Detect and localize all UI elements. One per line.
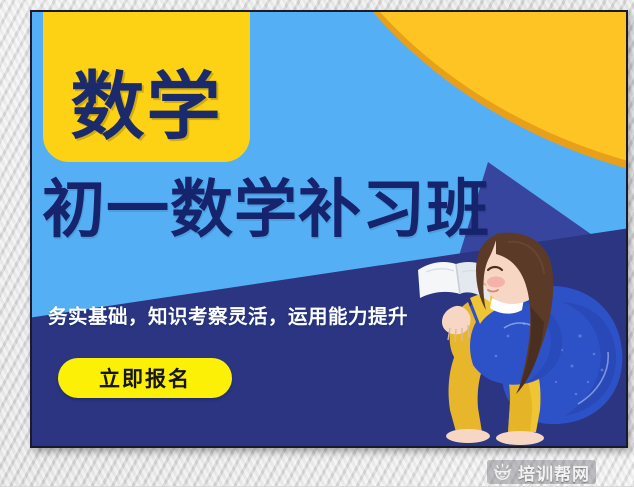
subtitle-text: 务实基础，知识考察灵活，运用能力提升 <box>48 300 518 329</box>
enroll-now-button[interactable]: 立即报名 <box>58 358 232 398</box>
site-watermark: 培训帮网 <box>487 460 596 484</box>
woman-reading-illustration <box>412 232 628 448</box>
site-watermark-label: 培训帮网 <box>518 460 590 485</box>
enroll-now-button-label: 立即报名 <box>99 363 191 393</box>
page-title: 初一数学补习班 <box>42 178 602 241</box>
poster-banner[interactable]: 数学 <box>30 10 628 448</box>
subject-badge-label: 数学 <box>71 70 223 162</box>
corner-swoosh-yellow-icon <box>276 10 628 184</box>
subject-badge: 数学 <box>43 10 250 162</box>
sun-smiley-icon <box>493 463 512 482</box>
